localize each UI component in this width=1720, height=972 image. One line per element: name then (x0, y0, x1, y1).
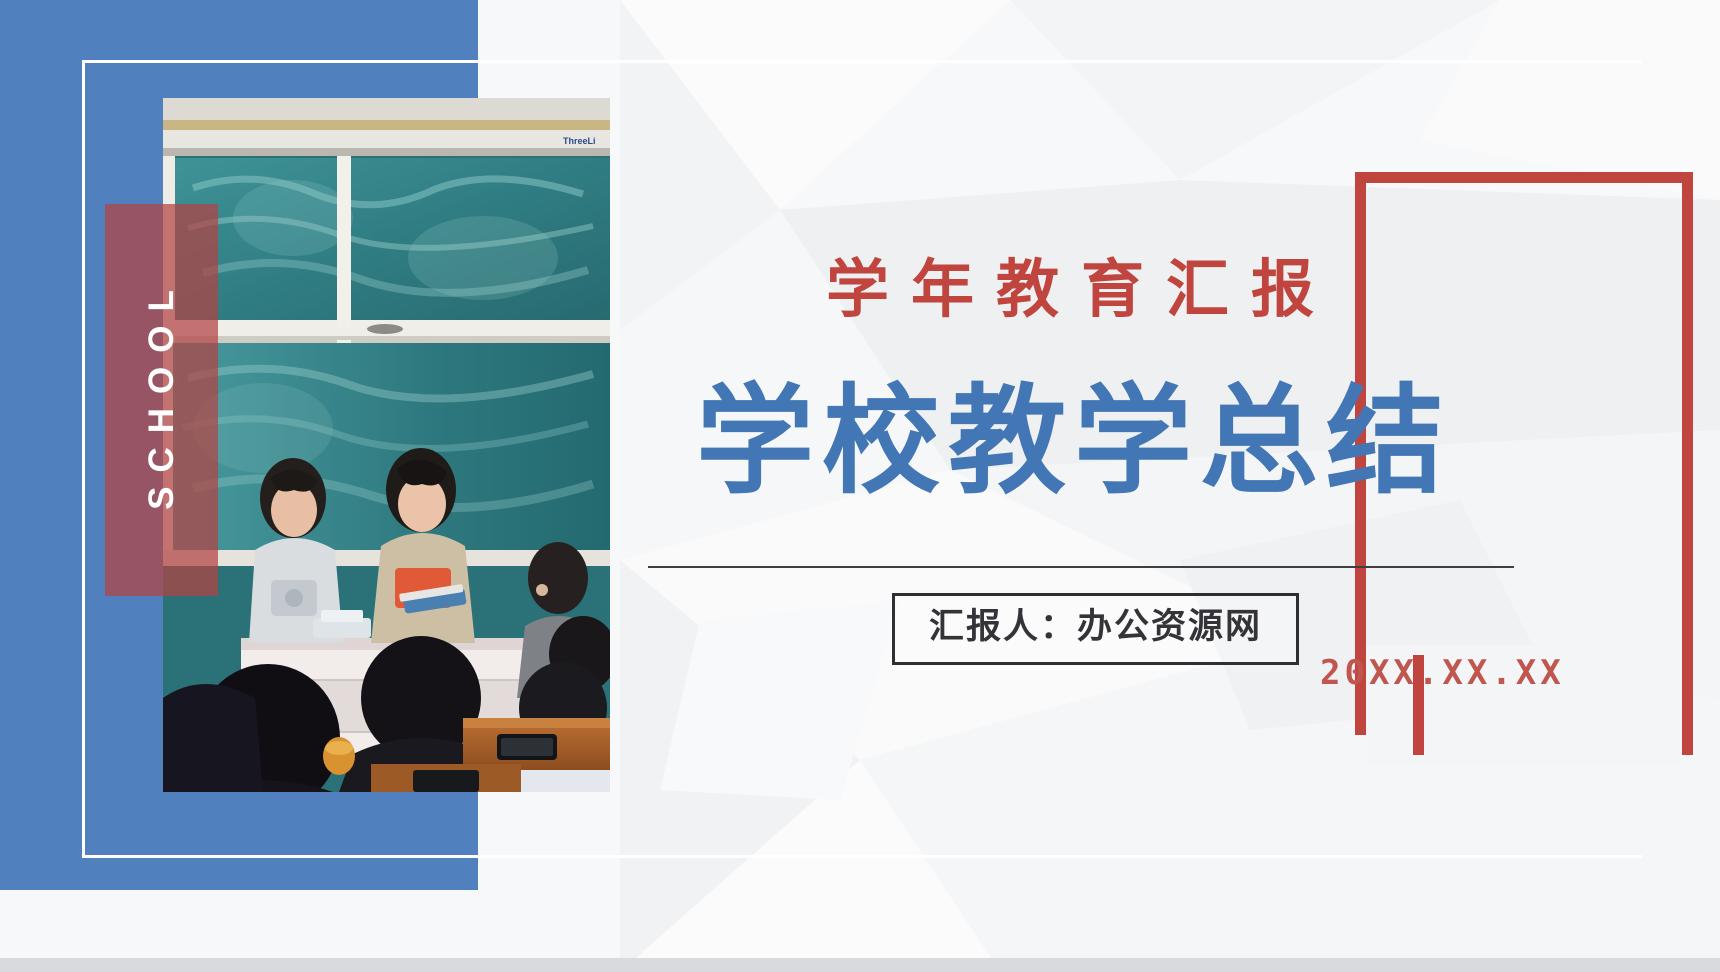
classroom-photo: ThreeLi (163, 98, 610, 792)
slide-main-title: 学校教学总结 (620, 378, 1520, 505)
title-divider-line (648, 566, 1514, 568)
slide-subtitle: 学年教育汇报 (620, 258, 1520, 321)
presenter-label: 汇报人：办公资源网 (929, 607, 1262, 647)
presentation-slide: ThreeLi (0, 0, 1720, 972)
svg-text:ThreeLi: ThreeLi (563, 136, 596, 146)
content-column: 学年教育汇报 学校教学总结 汇报人：办公资源网 20XX.XX.XX (620, 0, 1720, 972)
slide-date: 20XX.XX.XX (1320, 653, 1565, 693)
presenter-box: 汇报人：办公资源网 (892, 593, 1299, 665)
school-label: SCHOOL (142, 276, 182, 524)
school-side-ribbon: SCHOOL (105, 204, 218, 596)
